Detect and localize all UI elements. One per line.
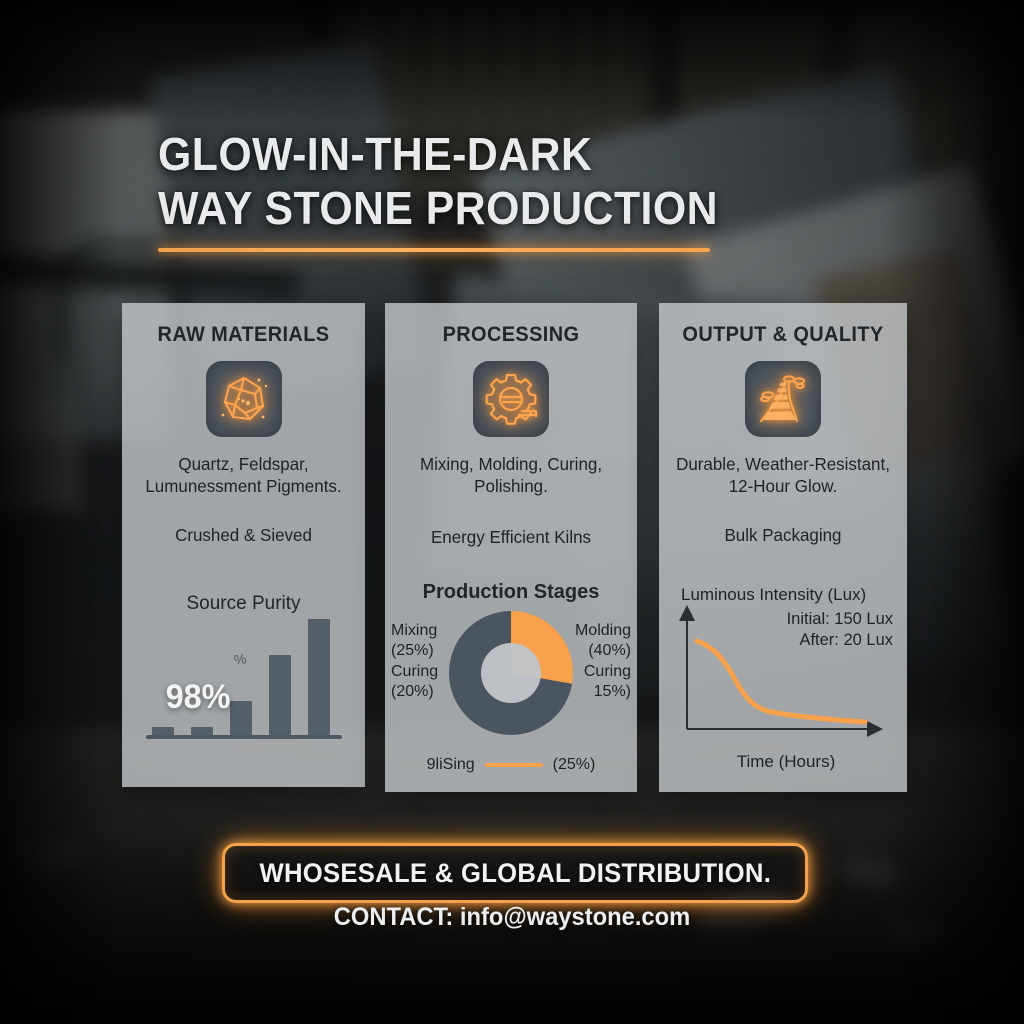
- page-title: GLOW-IN-THE-DARK WAY STONE PRODUCTION: [158, 128, 918, 236]
- contact-line[interactable]: CONTACT: info@waystone.com: [26, 903, 999, 932]
- card-body-text: Mixing, Molding, Curing, Polishing.: [397, 453, 626, 497]
- bar-item: [269, 655, 291, 735]
- bar-item: [152, 727, 174, 735]
- donut-chart-title: Production Stages: [385, 581, 637, 604]
- bar-item: [308, 619, 330, 735]
- card-processing[interactable]: PROCESSING Mixing, Molding, Curing, Poli…: [385, 303, 637, 792]
- donut-legend: 9liSing (25%): [385, 756, 637, 774]
- cards-row: RAW MATERIALS: [122, 303, 907, 795]
- title-line-2: WAY STONE PRODUCTION: [158, 182, 865, 236]
- title-underline-glow: [158, 248, 710, 252]
- distribution-banner[interactable]: WHOSESALE & GLOBAL DISTRIBUTION.: [222, 843, 808, 903]
- card-body-text: Durable, Weather-Resistant, 12-Hour Glow…: [670, 453, 895, 497]
- donut-legend-label: 9liSing: [427, 756, 475, 774]
- donut-label-molding: Molding: [575, 621, 631, 641]
- banner-text: WHOSESALE & GLOBAL DISTRIBUTION.: [259, 858, 771, 889]
- bar-item: [230, 701, 252, 735]
- line-chart: Luminous Intensity (Lux) Initial: 150 Lu…: [675, 585, 897, 770]
- bar-highlight-label: 98%: [166, 678, 231, 717]
- card-subtext: Energy Efficient Kilns: [397, 527, 626, 548]
- bar-chart: % 98%: [146, 609, 342, 739]
- bar-axis-baseline: [146, 735, 342, 739]
- card-body-text: Quartz, Feldspar, Lumunessment Pigments.: [133, 453, 353, 497]
- infographic-poster: GLOW-IN-THE-DARK WAY STONE PRODUCTION RA…: [0, 0, 1024, 1024]
- donut-hole: [481, 643, 541, 703]
- bar-item: [191, 727, 213, 735]
- edge-shade-left: [0, 0, 120, 1024]
- glowing-path-icon: [745, 361, 821, 437]
- card-raw-materials[interactable]: RAW MATERIALS: [122, 303, 365, 787]
- card-subtext: Bulk Packaging: [670, 525, 895, 546]
- bar-ghost-label: %: [233, 650, 248, 668]
- card-title: PROCESSING: [391, 323, 630, 347]
- donut-label-mixing-pct: (25%): [391, 641, 438, 661]
- donut-label-mixing: Mixing: [391, 621, 438, 641]
- line-chart-xlabel: Time (Hours): [675, 752, 897, 772]
- card-title: OUTPUT & QUALITY: [665, 323, 901, 347]
- donut-label-curing2-pct: 15%): [575, 682, 631, 702]
- edge-shade-top: [0, 0, 1024, 120]
- donut-label-curing-pct: (20%): [391, 682, 438, 702]
- gem-stone-icon: [206, 361, 282, 437]
- gear-icon: [473, 361, 549, 437]
- card-output-quality[interactable]: OUTPUT & QUALITY Durable, Weat: [659, 303, 907, 792]
- donut-legend-swatch: [485, 763, 543, 767]
- line-chart-plot: [675, 599, 890, 759]
- donut-chart: [449, 611, 573, 735]
- card-title: RAW MATERIALS: [128, 323, 359, 347]
- card-subtext: Crushed & Sieved: [133, 525, 353, 546]
- donut-label-curing2: Curing: [575, 662, 631, 682]
- title-line-1: GLOW-IN-THE-DARK: [158, 128, 865, 182]
- donut-label-left: Mixing (25%) Curing (20%): [391, 621, 438, 703]
- donut-label-curing: Curing: [391, 662, 438, 682]
- donut-label-right: Molding (40%) Curing 15%): [575, 621, 631, 703]
- donut-legend-value: (25%): [553, 756, 596, 774]
- donut-label-molding-pct: (40%): [575, 641, 631, 661]
